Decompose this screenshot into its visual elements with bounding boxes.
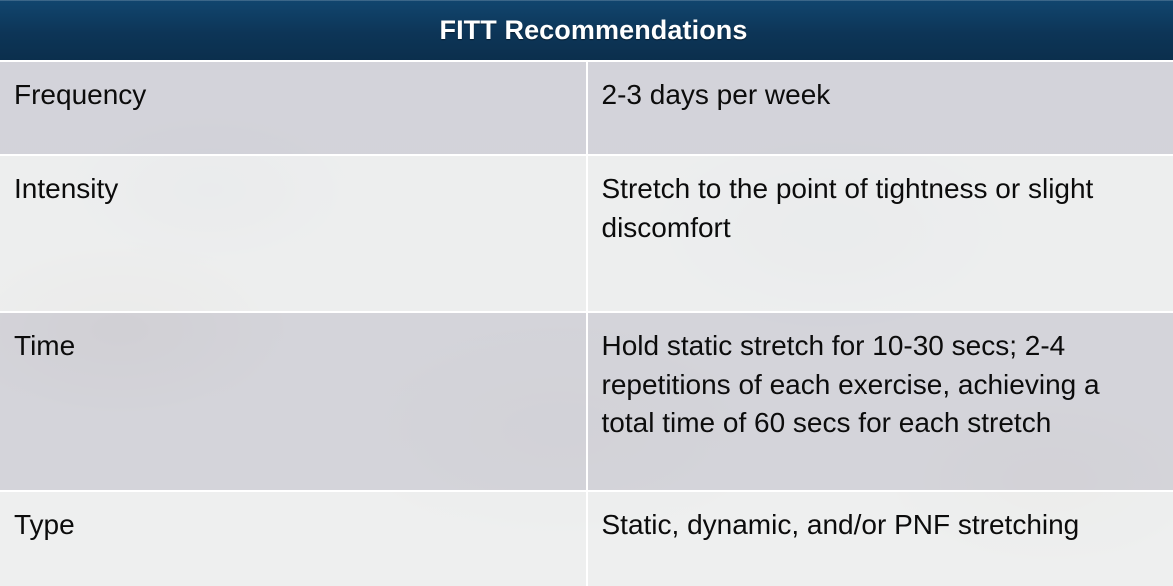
row-label-frequency: Frequency [0, 61, 587, 155]
table-title-bar: FITT Recommendations [0, 0, 1173, 61]
row-value-type: Static, dynamic, and/or PNF stretching [587, 491, 1173, 586]
table-row: Frequency 2-3 days per week [0, 61, 1173, 155]
row-value-frequency: 2-3 days per week [587, 61, 1173, 155]
table-header-row: FITT Recommendations [0, 0, 1173, 61]
row-label-intensity: Intensity [0, 155, 587, 312]
fitt-recommendations-table: FITT Recommendations Frequency 2-3 days … [0, 0, 1173, 586]
row-value-time: Hold static stretch for 10-30 secs; 2-4 … [587, 312, 1173, 491]
page-title: FITT Recommendations [1, 1, 1172, 59]
row-label-time: Time [0, 312, 587, 491]
table-row: Time Hold static stretch for 10-30 secs;… [0, 312, 1173, 491]
table-row: Type Static, dynamic, and/or PNF stretch… [0, 491, 1173, 586]
table-body: Frequency 2-3 days per week Intensity St… [0, 61, 1173, 586]
row-value-intensity: Stretch to the point of tightness or sli… [587, 155, 1173, 312]
table-row: Intensity Stretch to the point of tightn… [0, 155, 1173, 312]
row-label-type: Type [0, 491, 587, 586]
slide-canvas: FITT Recommendations Frequency 2-3 days … [0, 0, 1173, 586]
